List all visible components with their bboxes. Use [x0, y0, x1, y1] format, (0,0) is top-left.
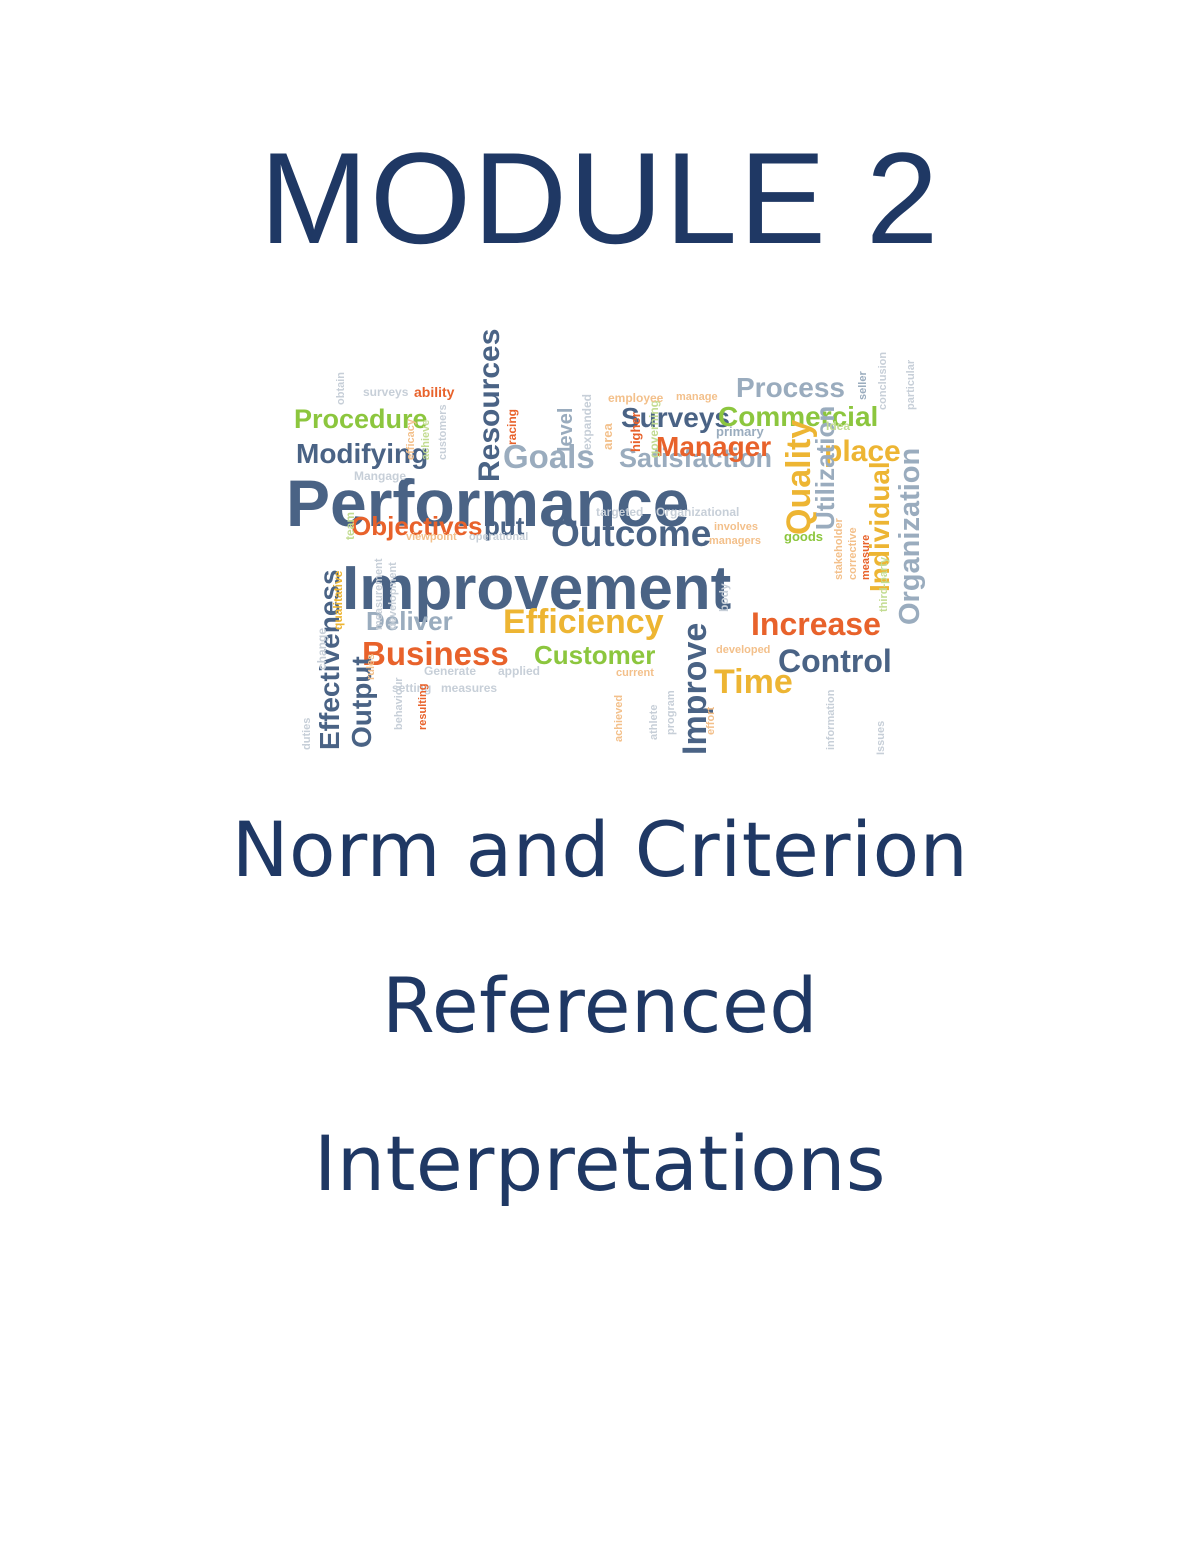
wordcloud-word: measurement: [374, 558, 385, 630]
wordcloud-word: higher: [629, 412, 642, 452]
wordcloud-word: Time: [714, 665, 793, 699]
wordcloud-word: measures: [441, 682, 497, 694]
wordcloud-word: development: [388, 562, 399, 630]
wordcloud-word: resulting: [418, 684, 429, 730]
wordcloud-word: area: [601, 423, 614, 450]
wordcloud-word: ability: [414, 385, 454, 399]
wordcloud-word: information: [826, 690, 837, 751]
wordcloud-word: Mangage: [354, 470, 406, 482]
wordcloud-word: operational: [469, 532, 528, 543]
wordcloud-word: athlete: [649, 705, 660, 740]
wordcloud-word: achieved: [614, 695, 625, 742]
wordcloud-word: particular: [906, 360, 917, 410]
wordcloud-word: current: [616, 668, 654, 679]
wordcloud-word: Organization: [896, 448, 925, 625]
document-page: MODULE 2 PerformanceImprovementProcedure…: [0, 0, 1200, 1553]
wordcloud-word: efficacy: [406, 419, 417, 460]
subtitle-line-1: Norm and Criterion: [0, 812, 1200, 888]
wordcloud-word: Idea: [826, 420, 850, 432]
wordcloud-word: Organizational: [656, 506, 739, 518]
wordcloud-word: effort: [706, 707, 717, 735]
wordcloud-canvas: PerformanceImprovementProcedureModifying…: [266, 330, 934, 780]
wordcloud-word: level: [556, 408, 576, 452]
wordcloud-word: manage: [676, 392, 718, 403]
wordcloud-word: Improve: [678, 623, 712, 755]
wordcloud-word: governing: [648, 400, 660, 458]
wordcloud-word: measure: [861, 535, 872, 580]
wordcloud-word: Generate: [424, 665, 476, 677]
wordcloud-word: Increase: [751, 608, 881, 640]
wordcloud-word: developed: [716, 645, 770, 656]
wordcloud-figure: PerformanceImprovementProcedureModifying…: [266, 330, 934, 780]
wordcloud-word: managers: [709, 536, 761, 547]
wordcloud-word: involves: [714, 522, 758, 533]
wordcloud-word: expanded: [581, 394, 593, 450]
wordcloud-word: employee: [608, 392, 663, 404]
page-title: MODULE 2: [0, 128, 1200, 268]
wordcloud-word: duties: [302, 718, 313, 750]
wordcloud-word: conclusion: [878, 352, 889, 410]
wordcloud-word: Customer: [534, 642, 655, 668]
wordcloud-word: achieve: [421, 420, 432, 460]
wordcloud-word: Outcome: [551, 515, 711, 552]
wordcloud-word: behaviour: [394, 677, 405, 730]
wordcloud-word: viewpoint: [406, 532, 457, 543]
wordcloud-word: Process: [736, 374, 845, 402]
subtitle-line-3: Interpretations: [0, 1126, 1200, 1202]
wordcloud-word: targeted: [596, 506, 643, 518]
wordcloud-word: rules: [366, 654, 377, 680]
wordcloud-word: body: [718, 583, 730, 612]
wordcloud-word: Resources: [475, 329, 505, 482]
wordcloud-word: Issues: [876, 721, 887, 755]
wordcloud-word: primary: [716, 425, 764, 438]
wordcloud-word: team: [344, 512, 356, 540]
wordcloud-word: corrective: [848, 527, 859, 580]
wordcloud-word: seller: [858, 371, 869, 400]
wordcloud-word: customers: [438, 404, 449, 460]
wordcloud-word: surveys: [363, 386, 408, 398]
wordcloud-word: racing: [506, 409, 518, 445]
wordcloud-word: qualitative: [332, 571, 344, 630]
wordcloud-word: Efficiency: [503, 605, 664, 639]
wordcloud-word: program: [666, 690, 677, 735]
wordcloud-word: applied: [498, 665, 540, 677]
wordcloud-word: Control: [778, 645, 892, 677]
wordcloud-word: third-party: [879, 557, 890, 612]
wordcloud-word: obtain: [336, 372, 347, 405]
subtitle-line-2: Referenced: [0, 968, 1200, 1044]
wordcloud-word: change: [316, 628, 328, 670]
wordcloud-word: goods: [784, 530, 823, 543]
wordcloud-word: stakeholder: [834, 518, 845, 580]
